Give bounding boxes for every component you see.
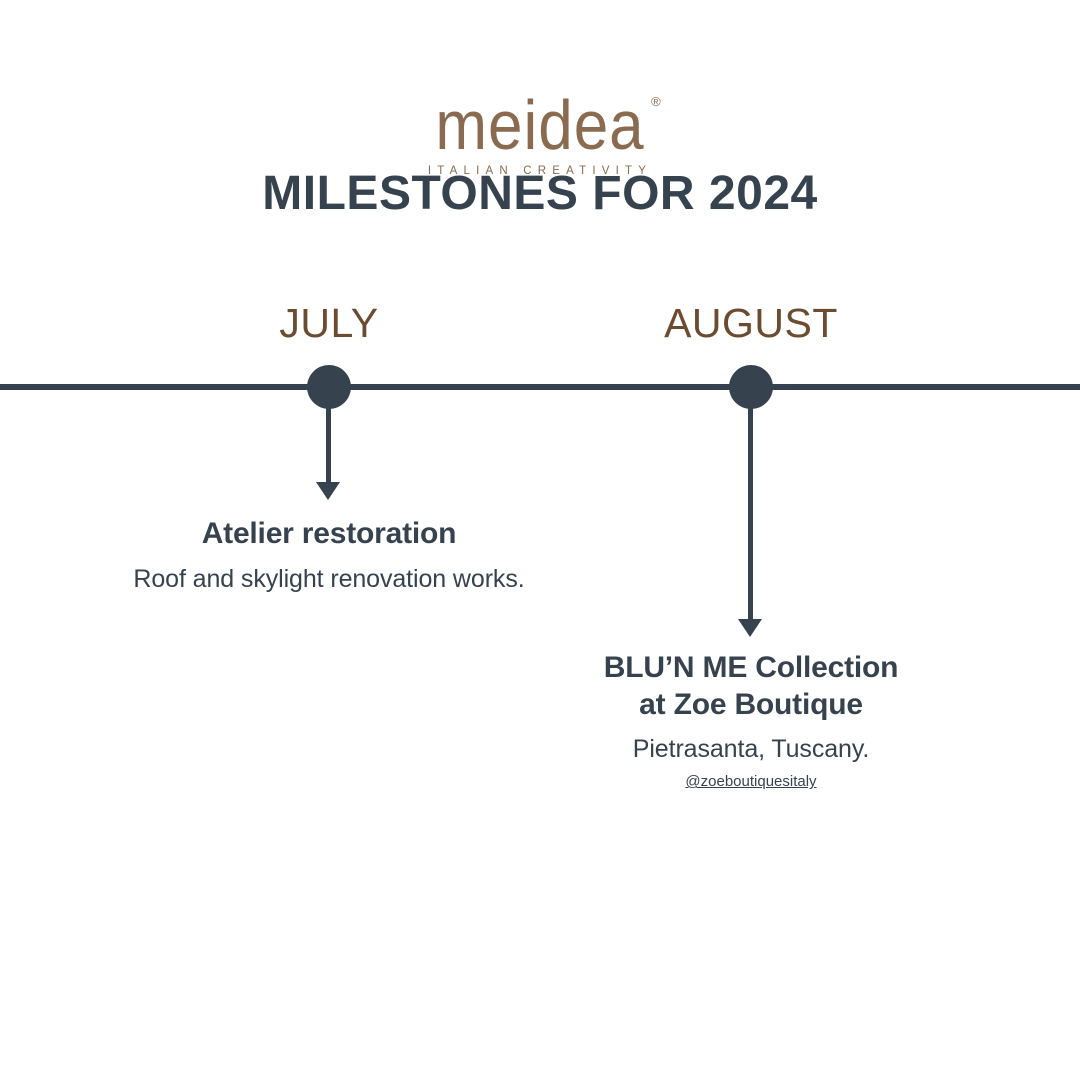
milestone-august-title-line2: at Zoe Boutique	[471, 687, 1031, 724]
brand-logo: meidea ® ITALIAN CREATIVITY	[0, 92, 1080, 178]
milestone-july: Atelier restoration Roof and skylight re…	[49, 516, 609, 594]
milestone-august-subtitle: Pietrasanta, Tuscany.	[471, 734, 1031, 764]
milestone-august-title-line1: BLU’N ME Collection	[471, 650, 1031, 687]
milestone-august: BLU’N ME Collection at Zoe Boutique Piet…	[471, 650, 1031, 791]
milestone-august-title: BLU’N ME Collection at Zoe Boutique	[471, 650, 1031, 723]
milestone-august-handle-link[interactable]: @zoeboutiquesitaly	[685, 773, 816, 790]
arrow-down-icon-july	[316, 482, 340, 500]
registered-trademark-icon: ®	[651, 95, 661, 108]
connector-line-july	[326, 407, 331, 485]
milestone-july-title: Atelier restoration	[49, 516, 609, 553]
page-title: MILESTONES FOR 2024	[0, 168, 1080, 221]
month-label-july: JULY	[169, 303, 489, 344]
timeline-node-july[interactable]	[307, 365, 351, 409]
brand-wordmark: meidea ®	[435, 92, 644, 161]
timeline-axis	[0, 384, 1080, 390]
timeline-node-august[interactable]	[729, 365, 773, 409]
month-label-august: AUGUST	[591, 303, 911, 344]
brand-wordmark-text: meidea	[435, 88, 644, 165]
connector-line-august	[748, 407, 753, 622]
arrow-down-icon-august	[738, 619, 762, 637]
infographic-canvas: meidea ® ITALIAN CREATIVITY MILESTONES F…	[0, 0, 1080, 1080]
milestone-july-subtitle: Roof and skylight renovation works.	[49, 564, 609, 594]
